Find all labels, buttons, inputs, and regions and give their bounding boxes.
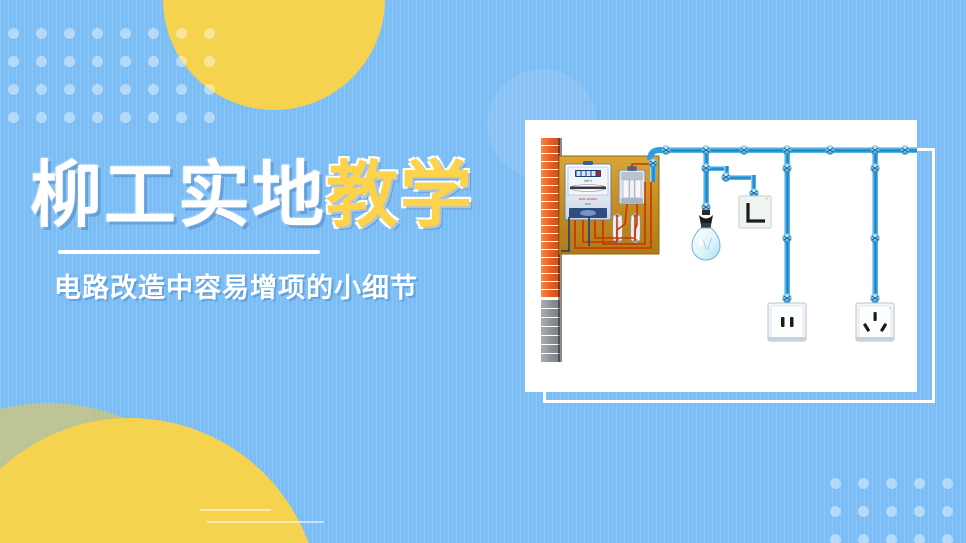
- outlet-three-pin-icon: [856, 303, 894, 341]
- decor-dot: [64, 56, 75, 67]
- circuit-diagram: kW·h 220V 10(40)A 50Hz: [525, 120, 917, 392]
- decor-dot: [176, 56, 187, 67]
- decor-dot: [886, 534, 897, 543]
- poster-canvas: 柳工实地教学 电路改造中容易增项的小细节: [0, 0, 966, 543]
- decor-dot: [64, 28, 75, 39]
- decor-dot: [914, 506, 925, 517]
- decor-dot: [204, 56, 215, 67]
- decor-dot: [886, 506, 897, 517]
- decor-dot: [120, 84, 131, 95]
- decor-dot: [92, 56, 103, 67]
- decor-dot: [148, 28, 159, 39]
- decor-dot: [36, 56, 47, 67]
- decor-dot: [204, 112, 215, 123]
- decor-dot: [148, 56, 159, 67]
- title-block: 柳工实地教学 电路改造中容易增项的小细节: [30, 160, 520, 305]
- decor-dot: [8, 28, 19, 39]
- title-divider: [58, 250, 320, 254]
- decor-dot: [120, 56, 131, 67]
- decor-dot: [914, 534, 925, 543]
- decor-dot: [176, 112, 187, 123]
- meter-board-icon: kW·h 220V 10(40)A 50Hz: [559, 156, 659, 254]
- decor-dot: [36, 28, 47, 39]
- decor-dot: [36, 84, 47, 95]
- decor-dot: [148, 112, 159, 123]
- decor-dot: [120, 28, 131, 39]
- title-primary-text: 柳工实地: [30, 156, 326, 236]
- svg-text:kW·h: kW·h: [584, 179, 592, 183]
- decor-dot: [830, 534, 841, 543]
- decor-dot: [64, 84, 75, 95]
- knife-switch-icon: [619, 166, 645, 204]
- svg-text:220V 10(40)A: 220V 10(40)A: [579, 197, 598, 201]
- decor-dot: [176, 84, 187, 95]
- decor-dot: [914, 478, 925, 489]
- wall-switch-icon: [739, 196, 771, 228]
- decor-dot: [858, 534, 869, 543]
- decor-dot: [942, 478, 953, 489]
- page-title: 柳工实地教学: [30, 160, 520, 232]
- yellow-circle-top-decor: [163, 0, 385, 110]
- title-accent-text: 教学: [326, 156, 474, 236]
- decor-dot: [942, 506, 953, 517]
- illustration-card: kW·h 220V 10(40)A 50Hz: [525, 120, 917, 392]
- decor-dot: [830, 478, 841, 489]
- outlet-two-pin-icon: [768, 303, 806, 341]
- decor-dot: [8, 56, 19, 67]
- svg-text:50Hz: 50Hz: [585, 202, 592, 206]
- decor-dot: [120, 112, 131, 123]
- yellow-circle-bottom-decor: [0, 418, 320, 543]
- decor-dot: [148, 84, 159, 95]
- decor-dot: [92, 112, 103, 123]
- decor-dot: [8, 84, 19, 95]
- decor-dot: [858, 506, 869, 517]
- decor-dot: [858, 478, 869, 489]
- decor-dot: [204, 84, 215, 95]
- decor-dot: [176, 28, 187, 39]
- decor-dot: [92, 84, 103, 95]
- page-subtitle: 电路改造中容易增项的小细节: [54, 266, 520, 305]
- decor-dot: [204, 28, 215, 39]
- conduit-junction-nodes: [648, 145, 909, 302]
- electric-meter-icon: kW·h 220V 10(40)A 50Hz: [565, 161, 611, 220]
- decor-dot: [92, 28, 103, 39]
- decor-dot: [886, 478, 897, 489]
- decor-dot: [64, 112, 75, 123]
- hairline-decor-2: [207, 521, 324, 523]
- decor-dot: [8, 112, 19, 123]
- light-bulb-icon: [692, 210, 720, 260]
- hairline-decor-1: [200, 509, 271, 511]
- decor-dot: [942, 534, 953, 543]
- decor-dot: [36, 112, 47, 123]
- decor-dot: [830, 506, 841, 517]
